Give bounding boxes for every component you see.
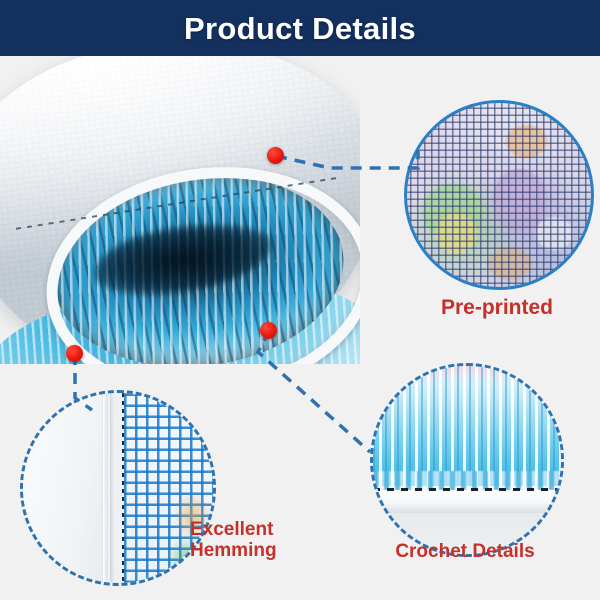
page-title: Product Details (184, 13, 416, 44)
crochet-hem-band (373, 490, 561, 513)
hem-white-panel (23, 393, 114, 583)
main-product-photo (0, 52, 360, 364)
marker-dot-preprinted (267, 147, 284, 164)
callout-circle-crochet (370, 363, 564, 557)
callout-label-crochet: Crochet Details (370, 541, 560, 562)
callout-circle-preprinted (404, 100, 594, 290)
hem-stitch-line (122, 393, 124, 583)
callout-label-hemming-line1: Excellent (190, 519, 360, 540)
header-banner: Product Details (0, 0, 600, 56)
marker-dot-hemming (66, 345, 83, 362)
callout-circle-hemming (20, 390, 216, 586)
canvas-grid-mesh (404, 100, 594, 290)
product-details-page: Pre-printed Excellent Hemming Crochet De… (0, 0, 600, 600)
callout-label-preprinted: Pre-printed (404, 296, 590, 320)
crochet-stitch-line (373, 488, 561, 491)
marker-dot-crochet (260, 322, 277, 339)
hem-fold-edge (103, 393, 110, 583)
callout-label-hemming: Excellent Hemming (190, 519, 360, 562)
callout-label-hemming-line2: Hemming (190, 540, 360, 561)
crochet-yarn-pile (373, 366, 561, 486)
